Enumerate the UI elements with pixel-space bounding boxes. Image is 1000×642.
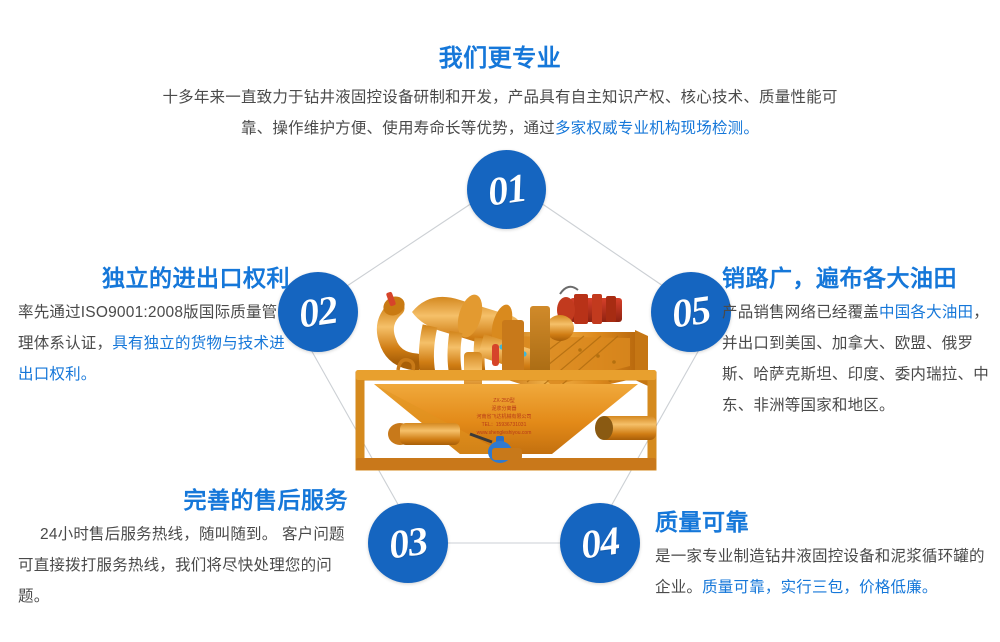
badge-04-number: 04 [578, 521, 621, 566]
feature-block-04: 质量可靠 是一家专业制造钻井液固控设备和泥浆循环罐的企业。质量可靠，实行三包，价… [655, 508, 991, 603]
feature-03-heading: 完善的售后服务 [18, 486, 348, 515]
feature-block-01: 我们更专业 十多年来一直致力于钻井液固控设备研制和开发，产品具有自主知识产权、核… [150, 44, 850, 144]
svg-text:ZX-250型: ZX-250型 [493, 397, 514, 404]
badge-04[interactable]: 04 [560, 503, 640, 583]
svg-text:TEL：15936731031: TEL：15936731031 [482, 422, 527, 428]
feature-05-body: 产品销售网络已经覆盖中国各大油田，并出口到美国、加拿大、欧盟、俄罗斯、哈萨克斯坦… [722, 297, 990, 421]
body-text: 产品销售网络已经覆盖 [722, 304, 879, 321]
badge-03[interactable]: 03 [368, 503, 448, 583]
feature-block-02: 独立的进出口权利 率先通过ISO9001:2008版国际质量管理体系认证，具有独… [18, 264, 290, 390]
badge-05[interactable]: 05 [651, 272, 731, 352]
svg-text:泥浆分离器: 泥浆分离器 [491, 405, 516, 412]
badge-05-number: 05 [669, 290, 712, 335]
feature-01-heading: 我们更专业 [150, 44, 850, 74]
feature-01-body: 十多年来一直致力于钻井液固控设备研制和开发，产品具有自主知识产权、核心技术、质量… [150, 82, 850, 144]
feature-02-body: 率先通过ISO9001:2008版国际质量管理体系认证，具有独立的货物与技术进出… [18, 297, 290, 390]
badge-02-number: 02 [296, 290, 339, 335]
highlighted-text: 多家权威专业机构现场检测。 [555, 120, 759, 137]
badge-01[interactable]: 01 [467, 150, 546, 229]
badge-03-number: 03 [386, 521, 429, 566]
feature-05-heading: 销路广，遍布各大油田 [722, 264, 990, 293]
feature-02-heading: 独立的进出口权利 [18, 264, 290, 293]
badge-02[interactable]: 02 [278, 272, 358, 352]
highlighted-text: 质量可靠，实行三包，价格低廉。 [702, 579, 938, 596]
feature-block-03: 完善的售后服务 24小时售后服务热线，随叫随到。 客户问题可直接拨打服务热线，我… [18, 486, 348, 612]
feature-block-05: 销路广，遍布各大油田 产品销售网络已经覆盖中国各大油田，并出口到美国、加拿大、欧… [722, 264, 990, 421]
body-text: 24小时售后服务热线，随叫随到。 客户问题可直接拨打服务热线，我们将尽快处理您的… [18, 526, 345, 605]
svg-text:河南省飞达机械有限公司: 河南省飞达机械有限公司 [476, 413, 531, 420]
highlighted-text: 中国各大油田 [879, 304, 973, 321]
feature-04-body: 是一家专业制造钻井液固控设备和泥浆循环罐的企业。质量可靠，实行三包，价格低廉。 [655, 541, 991, 603]
feature-03-body: 24小时售后服务热线，随叫随到。 客户问题可直接拨打服务热线，我们将尽快处理您的… [18, 519, 348, 612]
svg-text:www.shengleshiyou.com: www.shengleshiyou.com [477, 430, 532, 436]
infographic-canvas: ZX-250型 泥浆分离器 河南省飞达机械有限公司 TEL：1593673103… [0, 0, 1000, 642]
badge-01-number: 01 [485, 167, 528, 212]
product-photo: ZX-250型 泥浆分离器 河南省飞达机械有限公司 TEL：1593673103… [352, 258, 660, 486]
feature-04-heading: 质量可靠 [655, 508, 991, 537]
hopper-frame: ZX-250型 泥浆分离器 河南省飞达机械有限公司 TEL：1593673103… [356, 360, 656, 470]
